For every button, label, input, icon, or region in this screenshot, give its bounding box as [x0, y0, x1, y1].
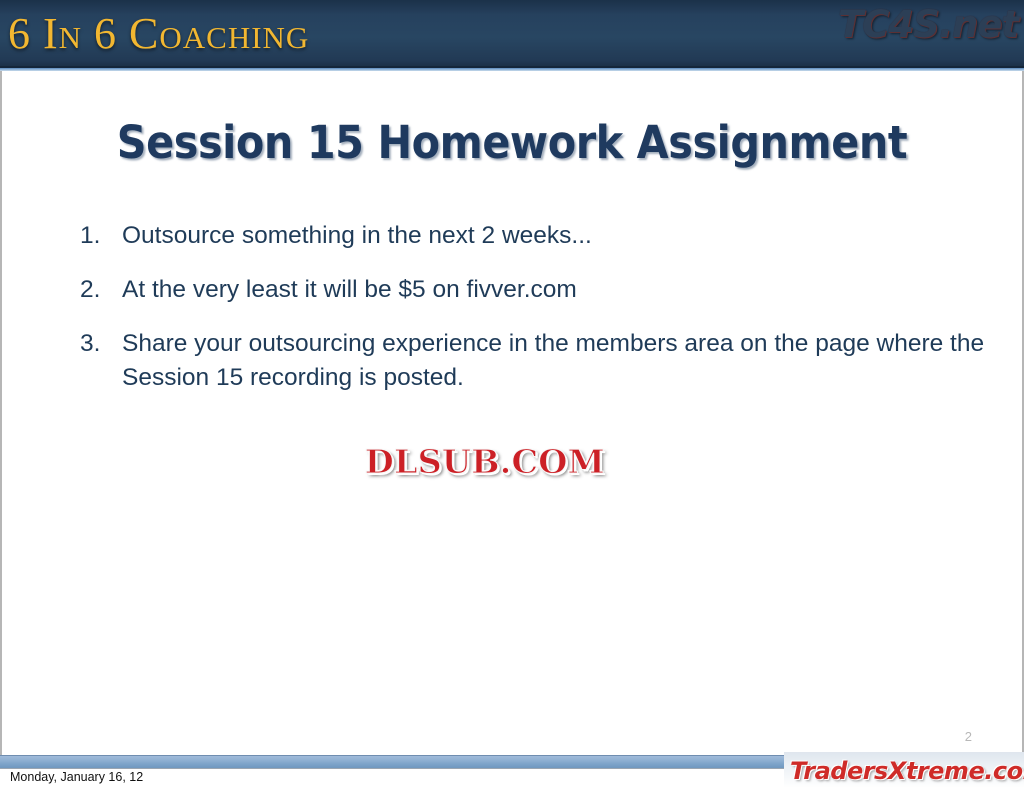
brand-title: 6 In 6 Coaching [8, 8, 309, 59]
list-item-number: 3. [80, 327, 122, 362]
page-title: Session 15 Homework Assignment [43, 116, 981, 169]
tc4s-logo: TC4S.net [838, 3, 1018, 46]
tradersxtreme-logo-text: TradersXtreme.com [790, 757, 1024, 785]
list-item-number: 1. [80, 219, 122, 254]
header-band: 6 In 6 Coaching TC4S.net [0, 0, 1024, 68]
assignment-list: 1. Outsource something in the next 2 wee… [80, 219, 985, 415]
list-item-text: Share your outsourcing experience in the… [122, 327, 985, 397]
tradersxtreme-logo: TradersXtreme.com [784, 752, 1024, 788]
list-item: 1. Outsource something in the next 2 wee… [80, 219, 985, 254]
list-item: 3. Share your outsourcing experience in … [80, 327, 985, 397]
page-number: 2 [965, 729, 972, 744]
footer-date: Monday, January 16, 12 [10, 770, 143, 784]
list-item: 2. At the very least it will be $5 on fi… [80, 273, 985, 308]
list-item-text: Outsource something in the next 2 weeks.… [122, 219, 985, 254]
dlsub-watermark: DLSUB.COM [365, 442, 605, 481]
list-item-number: 2. [80, 273, 122, 308]
slide-page: Session 15 Homework Assignment 1. Outsou… [0, 71, 1024, 755]
list-item-text: At the very least it will be $5 on fivve… [122, 273, 985, 308]
